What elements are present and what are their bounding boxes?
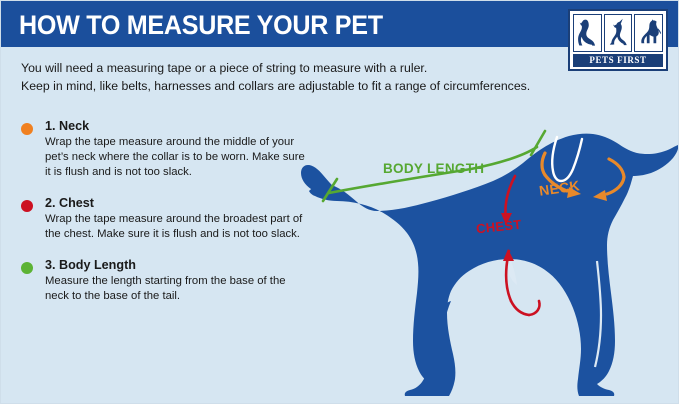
step-title: 2. Chest bbox=[45, 196, 305, 210]
pets-first-logo: PETS FIRST bbox=[568, 9, 668, 71]
standing-dog-icon bbox=[634, 14, 663, 52]
dog-measurement-diagram: BODY LENGTH NECK CHEST bbox=[301, 101, 679, 401]
logo-wordmark: PETS FIRST bbox=[573, 54, 663, 67]
bullet-red-icon bbox=[21, 200, 33, 212]
intro-line-1: You will need a measuring tape or a piec… bbox=[21, 59, 581, 77]
pet-measurement-infographic: HOW TO MEASURE YOUR PET bbox=[0, 0, 679, 404]
page-title: HOW TO MEASURE YOUR PET bbox=[19, 10, 383, 41]
sitting-dog-icon bbox=[573, 14, 602, 52]
step-item-neck: 1. Neck Wrap the tape measure around the… bbox=[19, 119, 305, 180]
step-item-chest: 2. Chest Wrap the tape measure around th… bbox=[19, 196, 305, 242]
step-description: Measure the length starting from the bas… bbox=[45, 274, 305, 304]
label-body-length: BODY LENGTH bbox=[383, 161, 484, 176]
bullet-green-icon bbox=[21, 262, 33, 274]
step-title: 3. Body Length bbox=[45, 258, 305, 272]
logo-icon-boxes bbox=[573, 14, 663, 52]
step-item-body-length: 3. Body Length Measure the length starti… bbox=[19, 258, 305, 304]
bullet-orange-icon bbox=[21, 123, 33, 135]
step-description: Wrap the tape measure around the middle … bbox=[45, 135, 305, 180]
intro-text: You will need a measuring tape or a piec… bbox=[21, 59, 581, 95]
step-title: 1. Neck bbox=[45, 119, 305, 133]
step-description: Wrap the tape measure around the broades… bbox=[45, 212, 305, 242]
measurement-steps-list: 1. Neck Wrap the tape measure around the… bbox=[19, 119, 305, 320]
intro-line-2: Keep in mind, like belts, harnesses and … bbox=[21, 77, 581, 95]
begging-dog-icon bbox=[604, 14, 633, 52]
